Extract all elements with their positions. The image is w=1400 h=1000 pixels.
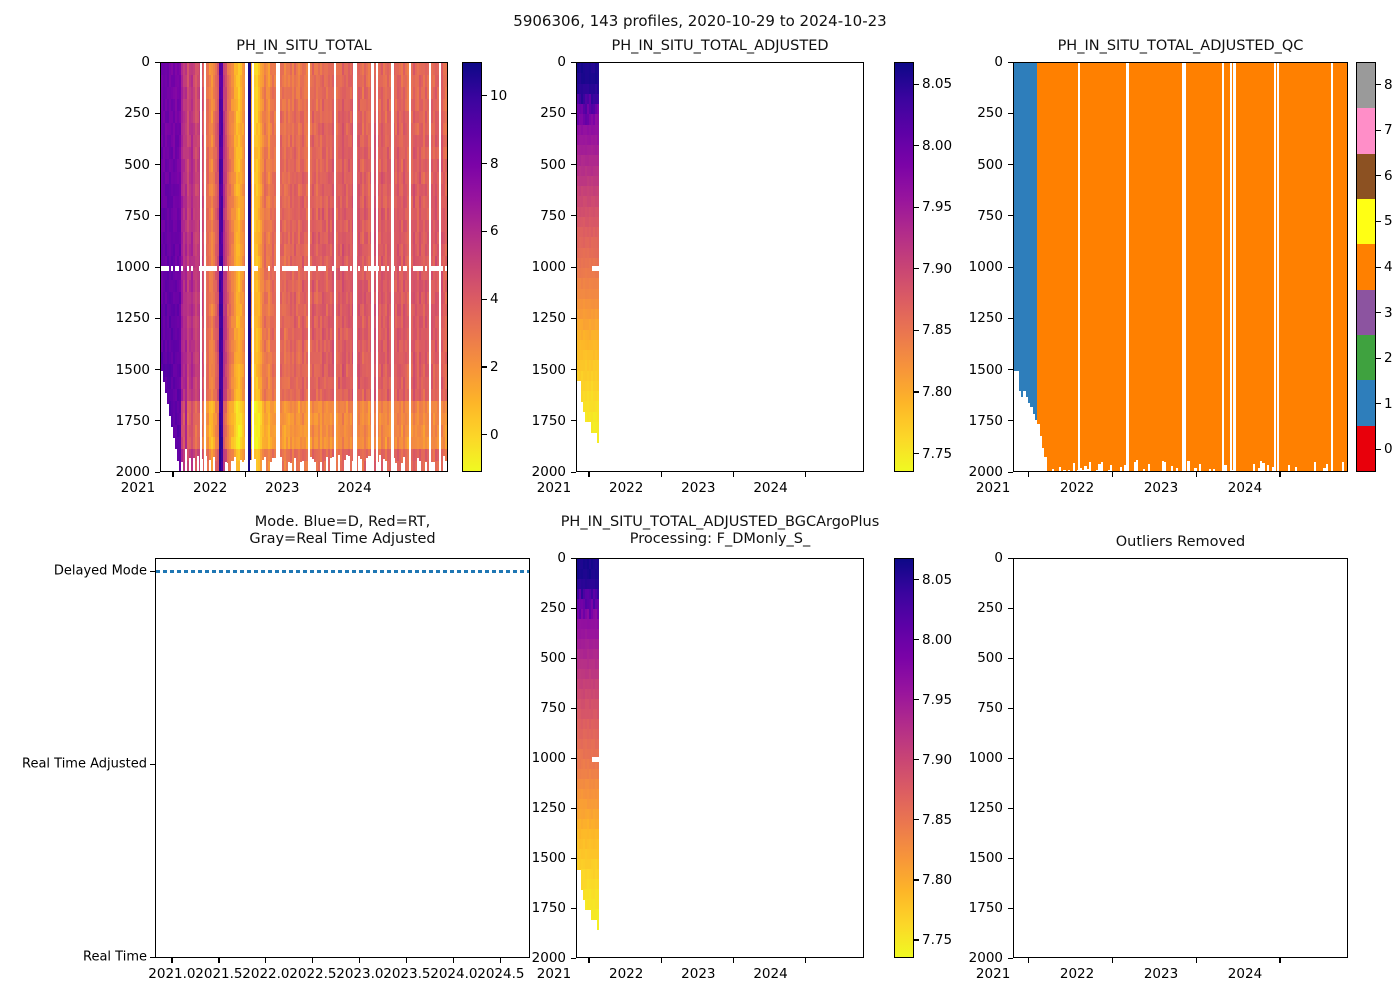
data-gap-marker <box>256 266 258 271</box>
data-gap-marker <box>177 266 179 271</box>
figure-suptitle: 5906306, 143 profiles, 2020-10-29 to 202… <box>0 12 1400 30</box>
data-gap-marker <box>167 266 169 271</box>
data-gap-marker <box>171 266 173 271</box>
data-gap-marker <box>219 266 221 271</box>
data-gap-marker <box>225 266 227 271</box>
figure-canvas: 5906306, 143 profiles, 2020-10-29 to 202… <box>0 0 1400 1000</box>
data-gap-marker <box>268 266 270 271</box>
data-gap-marker <box>191 266 193 271</box>
axes-ph-in-situ-total-plot-area <box>161 63 447 471</box>
axes-ph-in-situ-total <box>160 62 448 472</box>
data-gap-marker <box>215 266 217 271</box>
data-gap-marker <box>181 266 183 271</box>
data-gap-marker <box>187 266 189 271</box>
